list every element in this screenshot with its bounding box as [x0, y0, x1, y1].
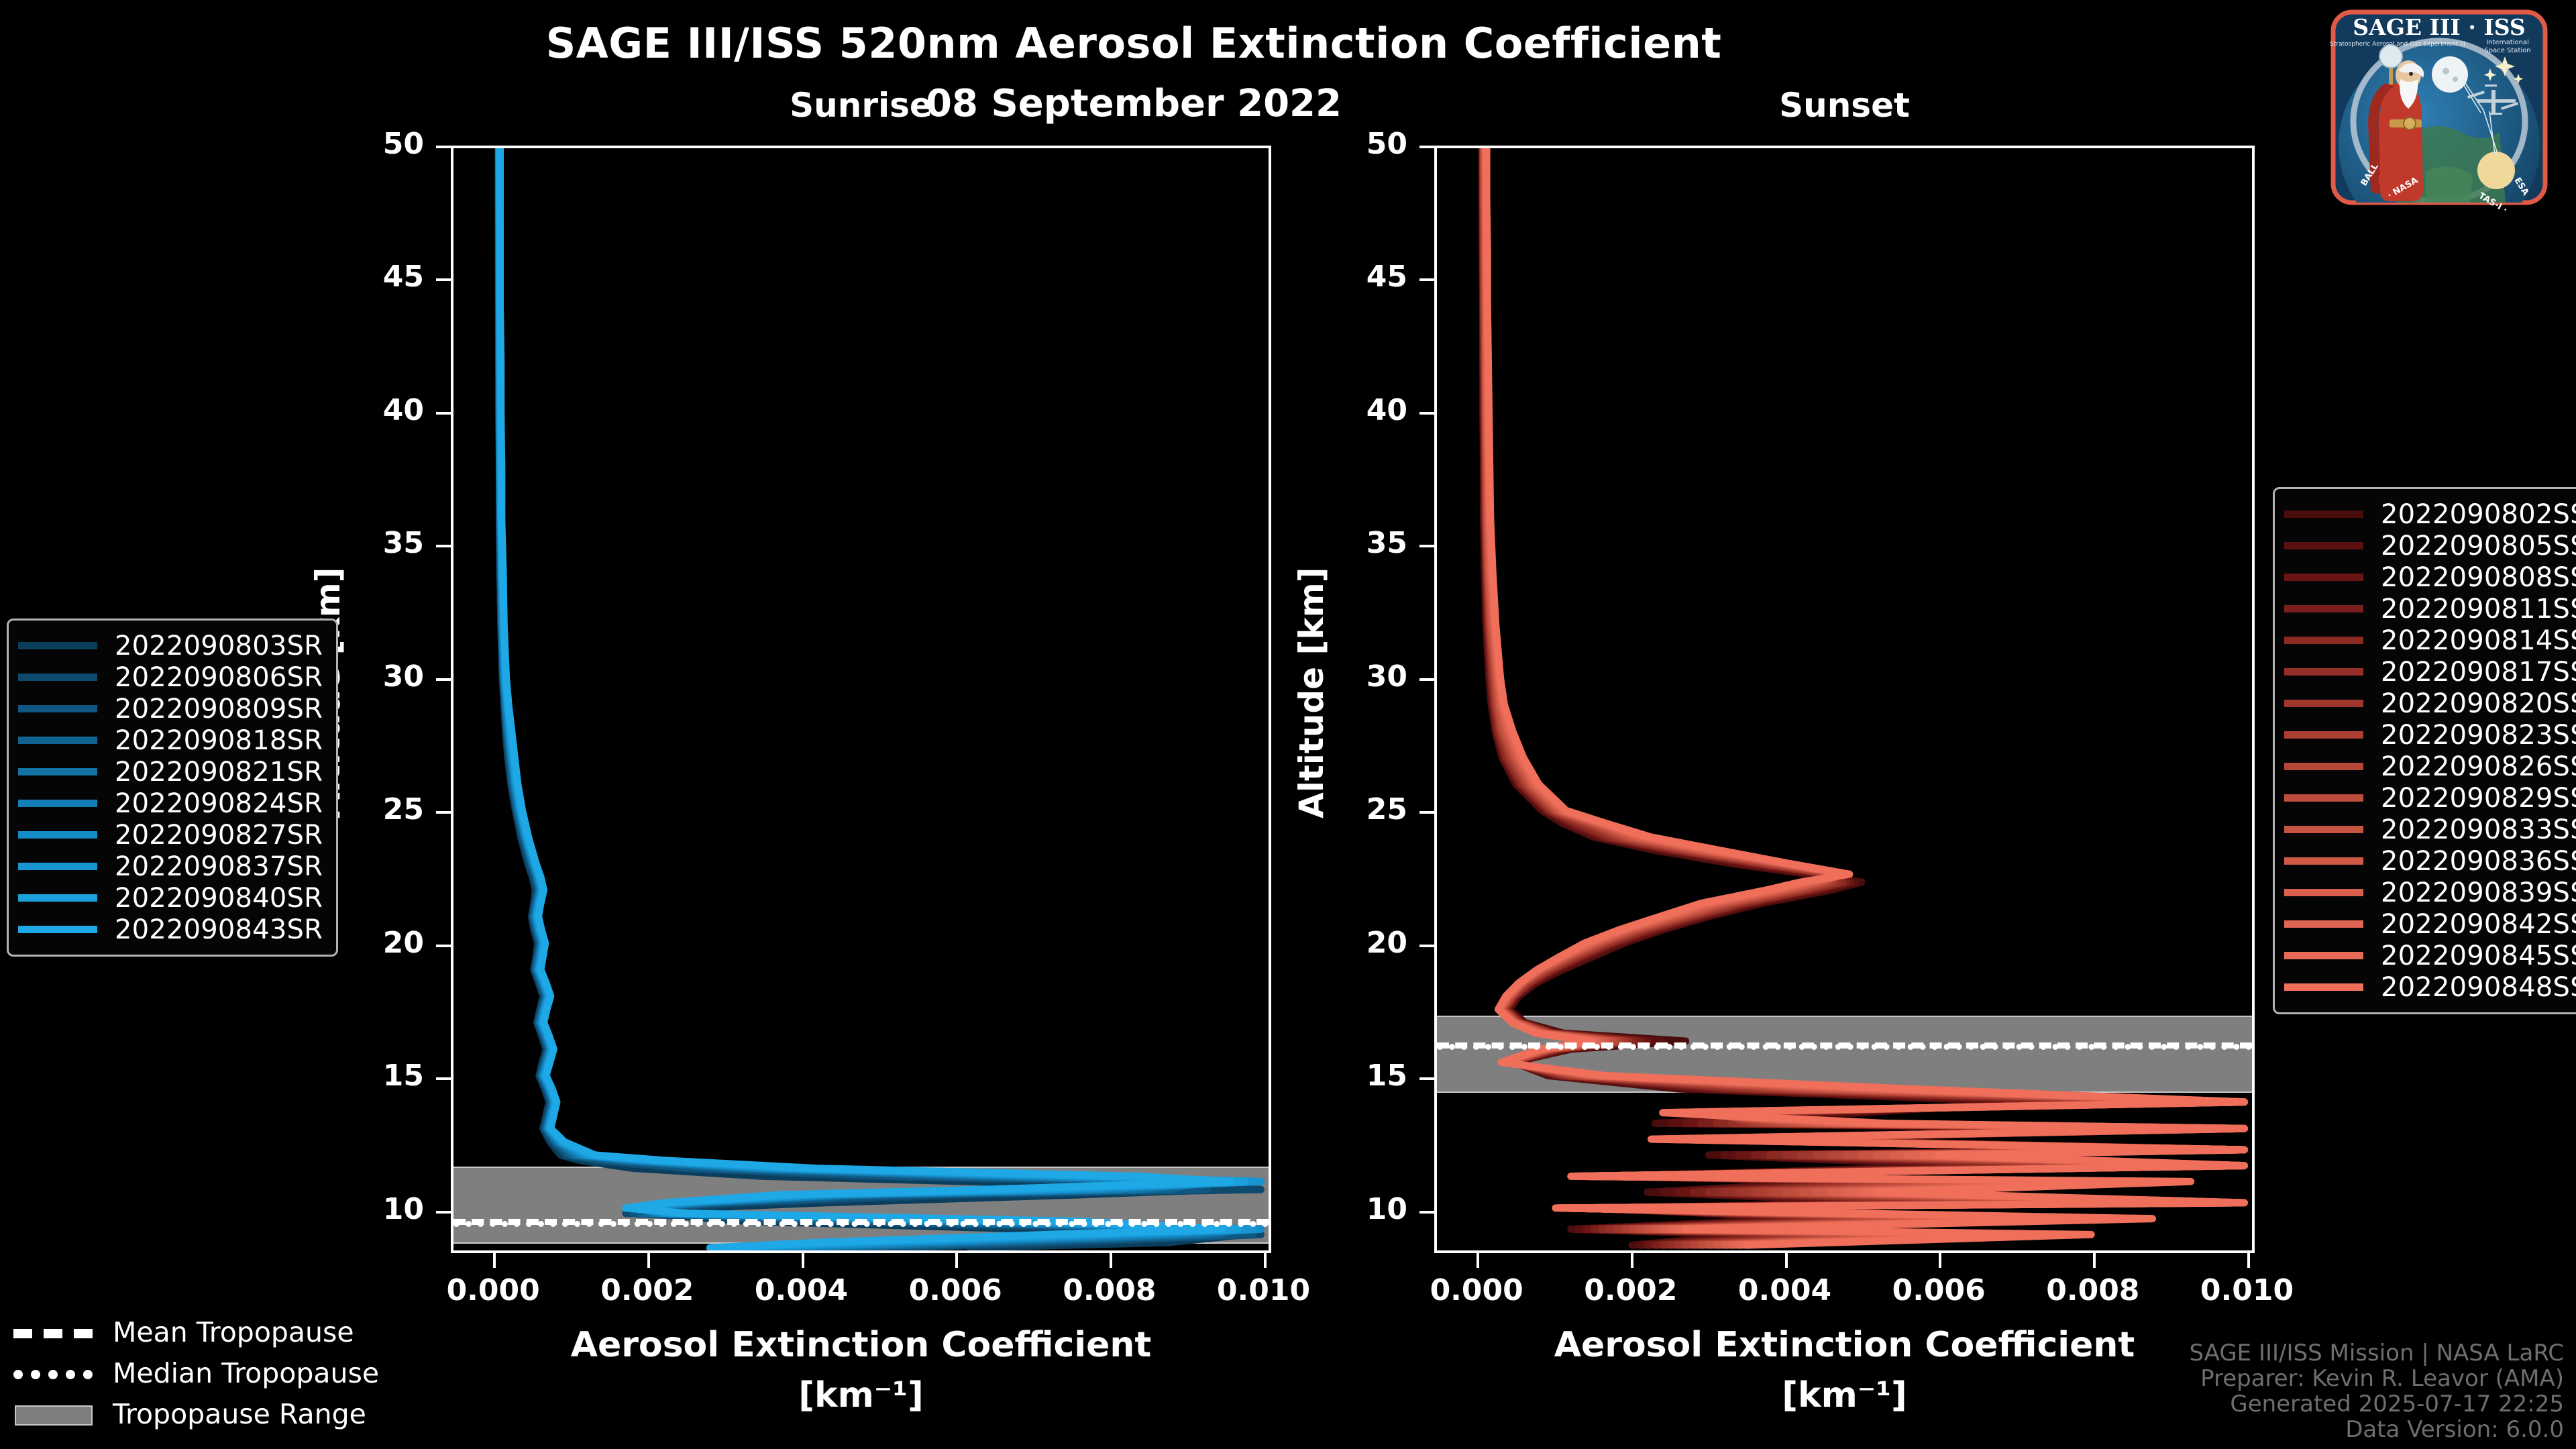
logo-subtitle-left: Stratospheric Aerosol and Gas Experiment…: [2330, 41, 2465, 48]
legend-item[interactable]: 2022090808SS: [2284, 561, 2576, 593]
legend-color-swatch: [2284, 511, 2363, 518]
legend-item[interactable]: 2022090833SS: [2284, 814, 2576, 845]
y-axis-tick-label: 20: [1307, 926, 1407, 960]
legend-color-swatch: [2284, 605, 2363, 612]
y-axis-tick: [436, 412, 451, 415]
tropopause-range-label: Tropopause Range: [113, 1398, 366, 1430]
mean-tropopause-icon: [13, 1324, 93, 1341]
y-axis-tick: [1419, 945, 1434, 947]
sunset-legend[interactable]: 2022090802SS2022090805SS2022090808SS2022…: [2273, 487, 2576, 1014]
key-row-mean: Mean Tropopause: [13, 1311, 379, 1352]
sunset-x-axis-label: Aerosol Extinction Coefficient: [1434, 1325, 2255, 1365]
x-axis-tick: [493, 1253, 496, 1268]
sunrise-x-axis-unit: [km⁻¹]: [451, 1375, 1271, 1415]
legend-item-label: 2022090824SR: [115, 788, 323, 819]
y-axis-tick-label: 40: [1307, 393, 1407, 427]
legend-color-swatch: [2284, 668, 2363, 676]
legend-item-label: 2022090820SS: [2381, 688, 2576, 719]
legend-item[interactable]: 2022090824SR: [18, 788, 323, 819]
legend-item-label: 2022090823SS: [2381, 720, 2576, 751]
x-axis-tick-label: 0.006: [1858, 1273, 2019, 1307]
legend-color-swatch: [2284, 542, 2363, 549]
legend-item-label: 2022090840SR: [115, 883, 323, 914]
y-axis-tick-label: 50: [1307, 127, 1407, 161]
legend-item-label: 2022090805SS: [2381, 531, 2576, 561]
y-axis-tick: [1419, 678, 1434, 681]
legend-item[interactable]: 2022090809SR: [18, 693, 323, 724]
y-axis-tick: [436, 1211, 451, 1214]
legend-color-swatch: [2284, 794, 2363, 802]
legend-color-swatch: [18, 737, 97, 744]
x-axis-tick: [1110, 1253, 1112, 1268]
x-axis-tick: [1631, 1253, 1633, 1268]
legend-item[interactable]: 2022090820SS: [2284, 688, 2576, 719]
legend-item-label: 2022090839SS: [2381, 877, 2576, 908]
legend-item-label: 2022090833SS: [2381, 814, 2576, 845]
tropopause-range-icon: [13, 1405, 93, 1423]
sunrise-plot-area: [451, 146, 1271, 1253]
profile-line: [498, 148, 1260, 1248]
y-axis-tick-label: 15: [1307, 1059, 1407, 1093]
legend-item-label: 2022090829SS: [2381, 783, 2576, 814]
sunset-x-axis-unit: [km⁻¹]: [1434, 1375, 2255, 1415]
legend-item-label: 2022090817SS: [2381, 657, 2576, 688]
profile-line: [498, 148, 1245, 1248]
x-axis-tick: [1264, 1253, 1267, 1268]
x-axis-tick-label: 0.000: [413, 1273, 574, 1307]
legend-item[interactable]: 2022090837SR: [18, 851, 323, 882]
legend-item-label: 2022090811SS: [2381, 594, 2576, 625]
legend-item-label: 2022090802SS: [2381, 499, 2576, 530]
sunrise-legend[interactable]: 2022090803SR2022090806SR2022090809SR2022…: [7, 619, 338, 957]
legend-color-swatch: [18, 768, 97, 775]
y-axis-tick: [1419, 545, 1434, 547]
y-axis-tick-label: 50: [323, 127, 424, 161]
sage-iii-iss-mission-patch-logo: SAGE III · ISS Stratospheric Aerosol and…: [2325, 4, 2553, 219]
legend-item-label: 2022090845SS: [2381, 941, 2576, 971]
sunrise-panel-title: Sunrise: [451, 86, 1271, 125]
sunset-panel-title: Sunset: [1434, 86, 2255, 125]
legend-color-swatch: [2284, 700, 2363, 707]
x-axis-tick-label: 0.008: [2012, 1273, 2173, 1307]
key-row-median: Median Tropopause: [13, 1352, 379, 1393]
sunrise-x-axis-label: Aerosol Extinction Coefficient: [451, 1325, 1271, 1365]
y-axis-tick-label: 40: [323, 393, 424, 427]
legend-item-label: 2022090818SR: [115, 725, 323, 756]
legend-item[interactable]: 2022090826SS: [2284, 751, 2576, 782]
legend-item[interactable]: 2022090803SR: [18, 630, 323, 661]
legend-item-label: 2022090821SR: [115, 757, 323, 788]
legend-color-swatch: [18, 705, 97, 712]
y-axis-tick-label: 45: [323, 260, 424, 294]
y-axis-tick: [1419, 1077, 1434, 1080]
y-axis-tick-label: 10: [323, 1192, 424, 1226]
y-axis-tick-label: 45: [1307, 260, 1407, 294]
y-axis-tick: [1419, 811, 1434, 814]
sunset-y-axis-label: Altitude [km]: [1292, 567, 1331, 818]
y-axis-tick: [436, 146, 451, 148]
legend-item-label: 2022090827SR: [115, 820, 323, 851]
profile-line: [498, 148, 1253, 1248]
x-axis-tick-label: 0.004: [1705, 1273, 1866, 1307]
legend-item[interactable]: 2022090842SS: [2284, 908, 2576, 940]
legend-item[interactable]: 2022090805SS: [2284, 530, 2576, 561]
x-axis-tick-label: 0.002: [1550, 1273, 1711, 1307]
profile-line: [500, 148, 1230, 1248]
y-axis-tick-label: 15: [323, 1059, 424, 1093]
profile-line: [499, 148, 1260, 1248]
legend-color-swatch: [18, 674, 97, 681]
legend-item[interactable]: 2022090821SR: [18, 756, 323, 788]
profile-line: [499, 148, 1245, 1248]
legend-item[interactable]: 2022090843SR: [18, 914, 323, 945]
x-axis-tick-label: 0.008: [1029, 1273, 1190, 1307]
median-tropopause-line: [453, 1221, 1269, 1227]
svg-text:Space Station: Space Station: [2484, 47, 2530, 54]
x-axis-tick: [1939, 1253, 1941, 1268]
median-tropopause-label: Median Tropopause: [113, 1357, 379, 1389]
y-axis-tick-label: 20: [323, 926, 424, 960]
legend-item[interactable]: 2022090840SR: [18, 882, 323, 914]
x-axis-tick: [2093, 1253, 2096, 1268]
x-axis-tick: [802, 1253, 804, 1268]
legend-item-label: 2022090803SR: [115, 631, 323, 661]
x-axis-tick: [1785, 1253, 1788, 1268]
profile-line: [498, 148, 1245, 1248]
profile-line: [498, 148, 1230, 1248]
y-axis-tick: [1419, 278, 1434, 281]
legend-color-swatch: [2284, 952, 2363, 959]
profile-line: [1484, 148, 2245, 1245]
y-axis-tick-label: 35: [1307, 526, 1407, 560]
y-axis-tick: [436, 278, 451, 281]
x-axis-tick-label: 0.004: [721, 1273, 882, 1307]
sunset-plot-area: [1434, 146, 2255, 1253]
legend-item-label: 2022090814SS: [2381, 625, 2576, 656]
legend-color-swatch: [2284, 763, 2363, 770]
legend-item-label: 2022090842SS: [2381, 909, 2576, 940]
legend-color-swatch: [2284, 826, 2363, 833]
median-tropopause-icon: [13, 1364, 93, 1382]
legend-item[interactable]: 2022090818SR: [18, 724, 323, 756]
legend-item-label: 2022090848SS: [2381, 972, 2576, 1003]
legend-item[interactable]: 2022090845SS: [2284, 940, 2576, 971]
legend-item[interactable]: 2022090802SS: [2284, 498, 2576, 530]
profile-line: [498, 148, 1260, 1248]
legend-color-swatch: [2284, 889, 2363, 896]
mean-tropopause-label: Mean Tropopause: [113, 1316, 354, 1348]
legend-item[interactable]: 2022090823SS: [2284, 719, 2576, 751]
tropopause-key: Mean Tropopause Median Tropopause Tropop…: [13, 1311, 379, 1434]
legend-color-swatch: [18, 831, 97, 839]
x-axis-tick: [955, 1253, 958, 1268]
legend-item-label: 2022090837SR: [115, 851, 323, 882]
legend-item-label: 2022090808SS: [2381, 562, 2576, 593]
legend-color-swatch: [18, 926, 97, 933]
legend-color-swatch: [2284, 857, 2363, 865]
legend-color-swatch: [18, 800, 97, 807]
median-tropopause-line: [1437, 1044, 2252, 1050]
profile-line: [499, 148, 1260, 1248]
y-axis-tick: [436, 945, 451, 947]
y-axis-tick-label: 35: [323, 526, 424, 560]
legend-color-swatch: [2284, 920, 2363, 928]
legend-item[interactable]: 2022090848SS: [2284, 971, 2576, 1003]
y-axis-tick: [1419, 1211, 1434, 1214]
y-axis-tick: [436, 811, 451, 814]
logo-title: SAGE III · ISS: [2353, 14, 2525, 40]
legend-item[interactable]: 2022090811SS: [2284, 593, 2576, 625]
y-axis-tick: [436, 545, 451, 547]
y-axis-tick: [1419, 146, 1434, 148]
legend-item[interactable]: 2022090814SS: [2284, 625, 2576, 656]
x-axis-tick-label: 0.002: [567, 1273, 728, 1307]
x-axis-tick-label: 0.010: [2167, 1273, 2328, 1307]
x-axis-tick: [647, 1253, 650, 1268]
legend-color-swatch: [18, 894, 97, 902]
legend-color-swatch: [18, 863, 97, 870]
y-axis-tick: [436, 678, 451, 681]
x-axis-tick-label: 0.010: [1183, 1273, 1344, 1307]
legend-item-label: 2022090843SR: [115, 914, 323, 945]
legend-color-swatch: [2284, 574, 2363, 581]
x-axis-tick-label: 0.000: [1396, 1273, 1557, 1307]
legend-color-swatch: [18, 642, 97, 649]
legend-item-label: 2022090806SR: [115, 662, 323, 693]
key-row-range: Tropopause Range: [13, 1393, 379, 1434]
legend-item[interactable]: 2022090817SS: [2284, 656, 2576, 688]
profile-series-group: [453, 148, 1269, 1250]
legend-item[interactable]: 2022090839SS: [2284, 877, 2576, 908]
legend-item[interactable]: 2022090827SR: [18, 819, 323, 851]
legend-item-label: 2022090809SR: [115, 694, 323, 724]
y-axis-tick: [1419, 412, 1434, 415]
profile-series-group: [1437, 148, 2252, 1250]
y-axis-tick-label: 10: [1307, 1192, 1407, 1226]
legend-item-label: 2022090836SS: [2381, 846, 2576, 877]
legend-color-swatch: [2284, 983, 2363, 991]
x-axis-tick-label: 0.006: [875, 1273, 1036, 1307]
y-axis-tick: [436, 1077, 451, 1080]
legend-color-swatch: [2284, 637, 2363, 644]
legend-item[interactable]: 2022090829SS: [2284, 782, 2576, 814]
x-axis-tick: [2247, 1253, 2250, 1268]
legend-item[interactable]: 2022090806SR: [18, 661, 323, 693]
svg-text:International: International: [2486, 39, 2529, 46]
page-title: SAGE III/ISS 520nm Aerosol Extinction Co…: [0, 19, 2267, 68]
legend-item-label: 2022090826SS: [2381, 751, 2576, 782]
legend-color-swatch: [2284, 731, 2363, 739]
x-axis-tick: [1477, 1253, 1479, 1268]
legend-item[interactable]: 2022090836SS: [2284, 845, 2576, 877]
credits-block: SAGE III/ISS Mission | NASA LaRC Prepare…: [2189, 1340, 2564, 1442]
